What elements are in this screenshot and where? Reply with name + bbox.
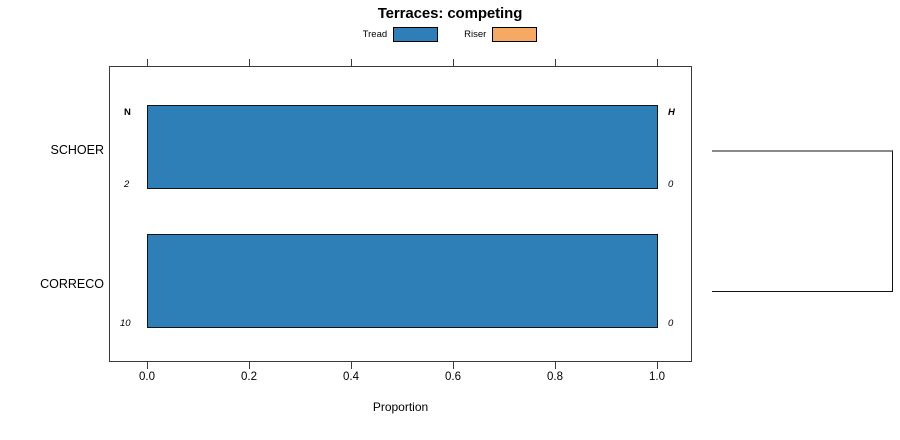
y-axis-label-correco: CORRECO [4,277,104,291]
chart-title: Terraces: competing [0,5,900,22]
legend-label-tread: Tread [363,30,387,40]
x-tick-top-3 [453,59,454,66]
x-tick-bottom-0 [147,362,148,369]
legend-swatch-riser [492,27,537,42]
x-tick-top-5 [657,59,658,66]
x-tick-label-3: 0.6 [433,371,473,383]
x-tick-bottom-1 [249,362,250,369]
bar-correco-bottom-left-label: 10 [120,319,131,329]
x-tick-bottom-5 [657,362,658,369]
legend-entry-riser[interactable]: Riser [464,27,537,42]
bar-schoer-tread[interactable] [147,105,658,189]
bar-schoer-top-left-label: N [124,108,131,118]
side-panel [712,150,893,292]
bar-correco-bottom-right-label: 0 [668,319,673,329]
chart-legend: Tread Riser [0,27,900,42]
bar-schoer-bottom-left-label: 2 [124,180,129,190]
chart-root: Terraces: competing Tread Riser N H 2 0 … [0,0,900,440]
x-tick-label-5: 1.0 [637,371,677,383]
legend-swatch-tread [393,27,438,42]
x-tick-top-0 [147,59,148,66]
bar-schoer-bottom-right-label: 0 [668,180,673,190]
y-axis-label-schoer: SCHOER [4,143,104,157]
x-tick-label-2: 0.4 [331,371,371,383]
bar-correco-tread[interactable] [147,234,658,328]
bar-schoer-top-right-label: H [668,108,675,118]
x-tick-top-4 [555,59,556,66]
x-tick-top-2 [351,59,352,66]
x-tick-label-1: 0.2 [229,371,269,383]
x-tick-top-1 [249,59,250,66]
x-tick-bottom-4 [555,362,556,369]
legend-label-riser: Riser [464,30,486,40]
x-tick-label-4: 0.8 [535,371,575,383]
x-tick-bottom-2 [351,362,352,369]
x-axis-title: Proportion [109,400,692,414]
x-tick-label-0: 0.0 [127,371,167,383]
legend-entry-tread[interactable]: Tread [363,27,438,42]
x-tick-bottom-3 [453,362,454,369]
